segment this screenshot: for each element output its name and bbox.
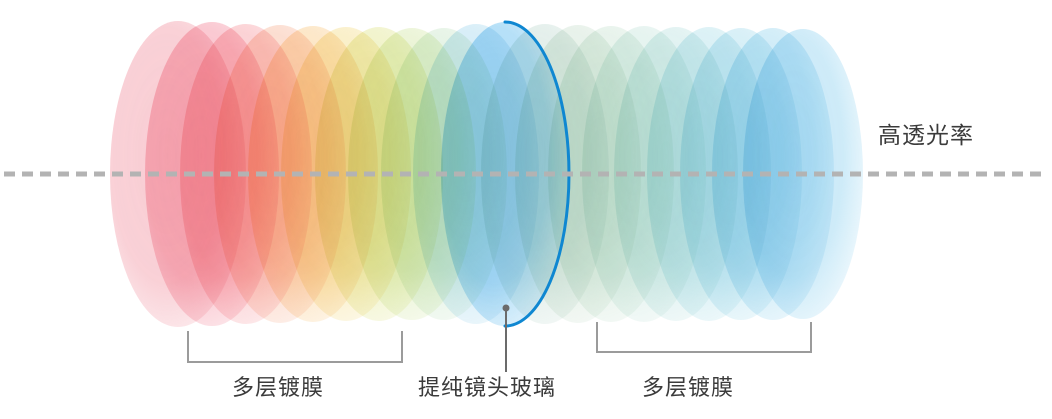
lens-diagram-figure: 多层镀膜 提纯镜头玻璃 多层镀膜 高透光率: [0, 0, 1052, 419]
annotation-layer: [0, 0, 1052, 419]
label-coating-left: 多层镀膜: [232, 375, 324, 401]
label-purified-lens-glass: 提纯镜头玻璃: [418, 375, 556, 401]
label-high-transmittance: 高透光率: [878, 122, 974, 148]
label-coating-right: 多层镀膜: [642, 375, 734, 401]
bracket-coating-left: [188, 331, 402, 362]
bracket-coating-right: [597, 322, 811, 352]
glass-leader-dot: [503, 305, 510, 312]
